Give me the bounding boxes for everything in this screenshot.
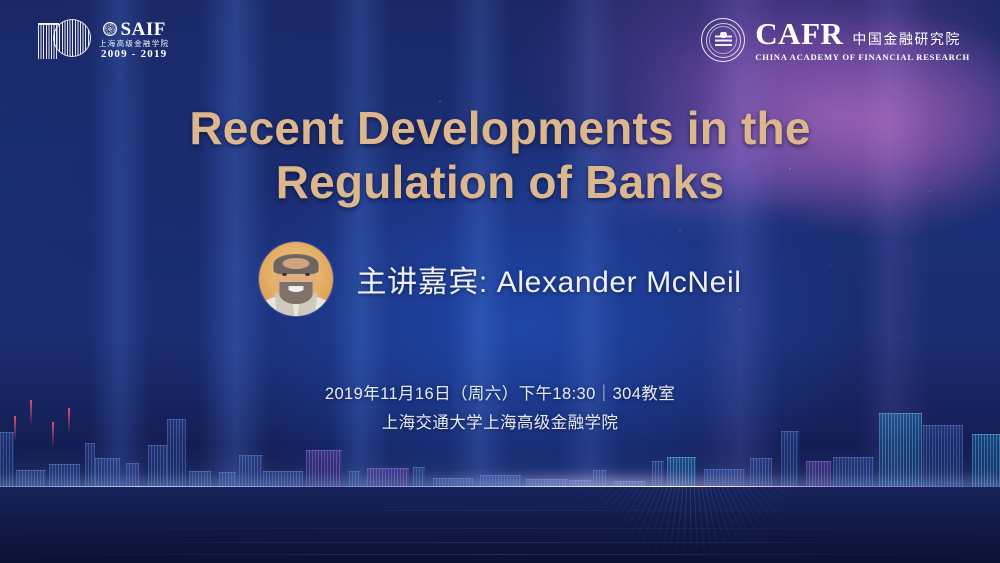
perspective-ground-grid xyxy=(0,487,1000,563)
speaker-block: 主讲嘉宾: Alexander McNeil xyxy=(0,242,1000,316)
cafr-subtitle: CHINA ACADEMY OF FINANCIAL RESEARCH xyxy=(755,53,970,62)
ground-perspective-line xyxy=(690,487,691,563)
building xyxy=(95,458,120,488)
event-organizer: 上海交通大学上海高级金融学院 xyxy=(0,409,1000,438)
event-poster: SAIF 上海高级金融学院 2009 - 2019 CAFR 中国金融研究院 C… xyxy=(0,0,1000,563)
event-details: 2019年11月16日（周六）下午18:30｜304教室 上海交通大学上海高级金… xyxy=(0,380,1000,438)
cafr-seal-icon xyxy=(701,18,745,62)
building xyxy=(972,434,1000,488)
building xyxy=(0,432,14,488)
cafr-logo-text: CAFR 中国金融研究院 CHINA ACADEMY OF FINANCIAL … xyxy=(755,18,970,62)
ground-perspective-line xyxy=(690,487,699,563)
building xyxy=(126,463,139,488)
saif-seal-icon xyxy=(103,22,117,36)
ground-horizontal-line xyxy=(0,542,1000,543)
building xyxy=(306,450,342,488)
ground-horizontal-line xyxy=(0,554,1000,555)
saif-logo-text: SAIF 上海高级金融学院 2009 - 2019 xyxy=(99,20,169,61)
cafr-name: CAFR xyxy=(755,18,843,49)
cafr-chinese-name: 中国金融研究院 xyxy=(852,32,961,49)
speaker-name: 主讲嘉宾: Alexander McNeil xyxy=(357,257,742,301)
poster-title: Recent Developments in the Regulation of… xyxy=(0,102,1000,210)
speaker-avatar xyxy=(259,242,333,316)
event-datetime-venue: 2019年11月16日（周六）下午18:30｜304教室 xyxy=(0,380,1000,409)
building xyxy=(239,455,263,488)
saif-anniversary-10-icon xyxy=(38,16,90,64)
saif-name: SAIF xyxy=(121,20,166,39)
building xyxy=(49,464,80,488)
building xyxy=(85,443,95,488)
ground-horizontal-line xyxy=(0,510,1000,511)
title-line-2: Regulation of Banks xyxy=(0,156,1000,210)
saif-years: 2009 - 2019 xyxy=(101,49,167,60)
saif-logo[interactable]: SAIF 上海高级金融学院 2009 - 2019 xyxy=(38,16,169,64)
title-line-1: Recent Developments in the xyxy=(0,102,1000,156)
ground-horizontal-line xyxy=(0,528,1000,529)
cafr-logo[interactable]: CAFR 中国金融研究院 CHINA ACADEMY OF FINANCIAL … xyxy=(701,18,970,62)
saif-chinese-name: 上海高级金融学院 xyxy=(99,40,169,48)
building xyxy=(148,445,167,488)
